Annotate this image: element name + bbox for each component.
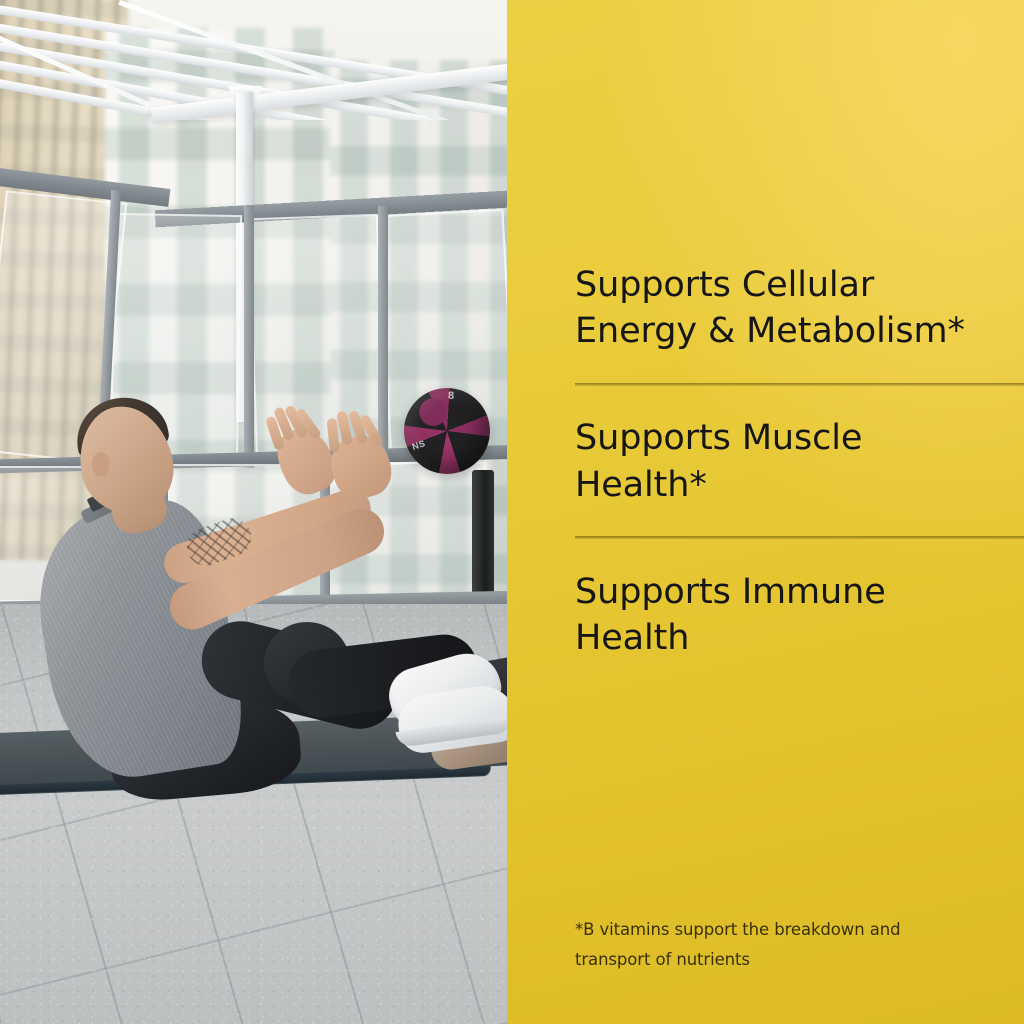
benefit-item-immune-health: Supports Immune Health (575, 539, 1002, 661)
benefit-text: Supports Muscle Health* (575, 386, 967, 535)
benefit-text: Supports Cellular Energy & Metabolism* (575, 262, 967, 383)
benefits-panel: Supports Cellular Energy & Metabolism* S… (507, 0, 1024, 1024)
lifestyle-photo: 8 NS (0, 0, 507, 1024)
benefit-item-muscle-health: Supports Muscle Health* (575, 386, 1002, 535)
benefit-item-cellular-energy: Supports Cellular Energy & Metabolism* (575, 262, 1002, 383)
benefits-list: Supports Cellular Energy & Metabolism* S… (575, 262, 1002, 661)
medicine-ball-number: 8 (448, 390, 454, 402)
medicine-ball (404, 388, 490, 474)
railing-mullion (378, 206, 388, 468)
footnote-disclaimer: *B vitamins support the breakdown and tr… (575, 915, 965, 974)
railing-black-post (472, 470, 494, 610)
railing-mullion (244, 206, 254, 468)
marketing-graphic: 8 NS Supports Cellular Energy & Metaboli… (0, 0, 1024, 1024)
athlete-ear (92, 452, 110, 477)
benefit-text: Supports Immune Health (575, 539, 967, 661)
